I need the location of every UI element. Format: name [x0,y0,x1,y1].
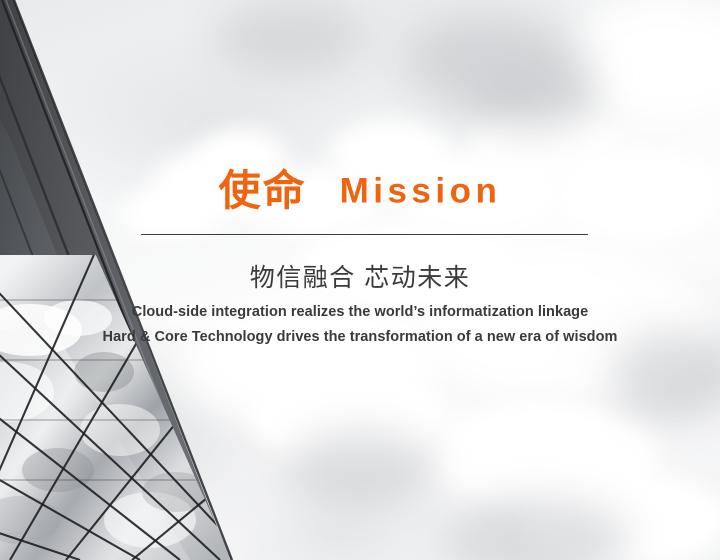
mission-content: 使命 Mission 物信融合 芯动未来 Cloud-side integrat… [0,0,720,560]
tagline-line-1: Cloud-side integration realizes the worl… [0,300,720,325]
headline-divider-rule [141,234,588,235]
mission-banner: 使命 Mission 物信融合 芯动未来 Cloud-side integrat… [0,0,720,560]
mission-headline: 使命 Mission [0,170,720,212]
tagline-line-2: Hard & Core Technology drives the transf… [0,325,720,350]
headline-chinese: 使命 [219,167,307,214]
tagline-group: Cloud-side integration realizes the worl… [0,300,720,350]
subtitle-chinese: 物信融合 芯动未来 [0,258,720,294]
headline-english: Mission [340,172,502,211]
